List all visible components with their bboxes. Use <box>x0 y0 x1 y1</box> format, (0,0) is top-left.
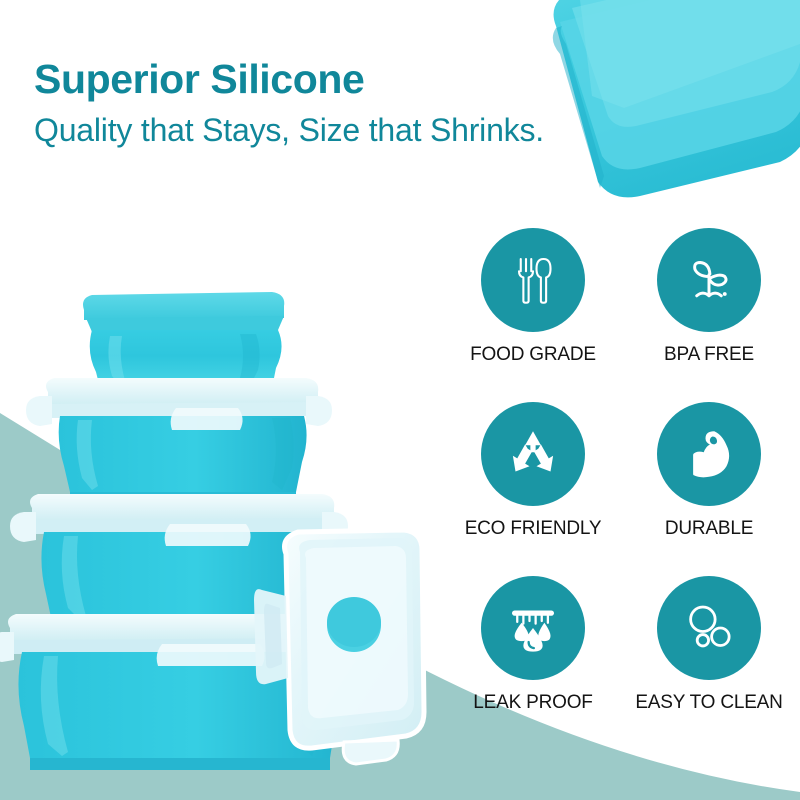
droplets-icon <box>505 600 561 656</box>
feature-label: DURABLE <box>665 518 753 540</box>
product-infographic: Superior Silicone Quality that Stays, Si… <box>0 0 800 800</box>
badge-circle <box>481 576 585 680</box>
feature-label: BPA FREE <box>664 344 754 366</box>
badge-circle <box>657 228 761 332</box>
page-subtitle: Quality that Stays, Size that Shrinks. <box>34 113 634 148</box>
badge-circle <box>657 402 761 506</box>
sprout-icon <box>681 252 737 308</box>
feature-leak-proof[interactable]: LEAK PROOF <box>452 576 614 750</box>
bubbles-icon <box>681 600 737 656</box>
feature-eco-friendly[interactable]: ECO FRIENDLY <box>452 402 614 576</box>
feature-durable[interactable]: DURABLE <box>628 402 790 576</box>
cutlery-icon <box>505 252 561 308</box>
feature-easy-to-clean[interactable]: EASY TO CLEAN <box>628 576 790 750</box>
recycle-icon <box>505 426 561 482</box>
feature-bpa-free[interactable]: BPA FREE <box>628 228 790 402</box>
page-title: Superior Silicone <box>34 58 634 101</box>
bicep-icon <box>681 426 737 482</box>
headline-block: Superior Silicone Quality that Stays, Si… <box>34 58 634 148</box>
feature-label: FOOD GRADE <box>470 344 596 366</box>
badge-circle <box>657 576 761 680</box>
badge-circle <box>481 402 585 506</box>
feature-label: ECO FRIENDLY <box>465 518 602 540</box>
feature-grid: FOOD GRADE BPA FREE <box>452 228 790 750</box>
feature-label: LEAK PROOF <box>473 692 592 714</box>
feature-food-grade[interactable]: FOOD GRADE <box>452 228 614 402</box>
badge-circle <box>481 228 585 332</box>
feature-label: EASY TO CLEAN <box>635 692 782 714</box>
